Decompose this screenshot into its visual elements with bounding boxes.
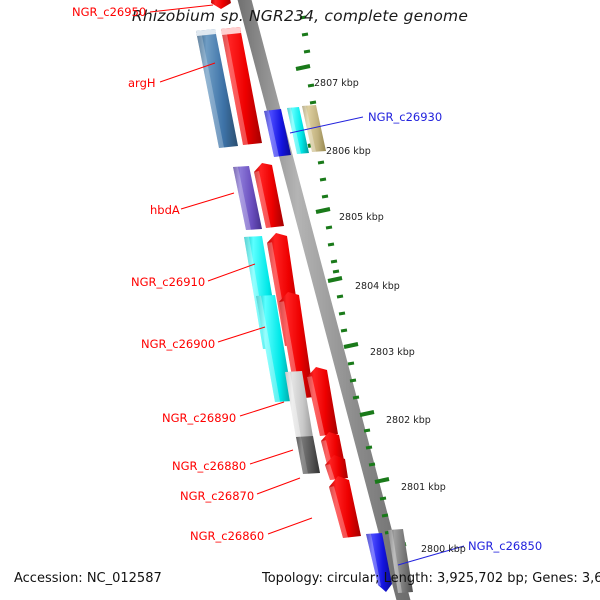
leader-line	[250, 450, 293, 464]
axis-tick-label: 2807 kbp	[314, 78, 359, 89]
axis-tick-label: 2801 kbp	[401, 482, 446, 493]
gene-label-hbda[interactable]: hbdA	[150, 203, 180, 217]
leader-line	[181, 193, 234, 209]
gene-label-argh[interactable]: argH	[128, 76, 156, 90]
gene-label-ngr_c26950[interactable]: NGR_c26950	[72, 5, 146, 19]
genome-map-canvas[interactable]	[0, 0, 600, 600]
axis-tick-label: 2803 kbp	[370, 347, 415, 358]
accession-text: Accession: NC_012587	[14, 571, 162, 586]
leader-line	[240, 402, 284, 416]
axis-tick-label: 2804 kbp	[355, 281, 400, 292]
gene-label-ngr_c26850[interactable]: NGR_c26850	[468, 539, 542, 553]
axis-tick-label: 2802 kbp	[386, 415, 431, 426]
leader-line	[268, 518, 312, 534]
gene-label-ngr_c26890[interactable]: NGR_c26890	[162, 411, 236, 425]
leader-line	[257, 478, 300, 494]
gene-label-ngr_c26860[interactable]: NGR_c26860	[190, 529, 264, 543]
gene-label-ngr_c26930[interactable]: NGR_c26930	[368, 110, 442, 124]
gene-label-ngr_c26880[interactable]: NGR_c26880	[172, 459, 246, 473]
genome-summary-text: Topology: circular; Length: 3,925,702 bp…	[262, 571, 600, 586]
genome-map-viewer: Rhizobium sp. NGR234, complete genome 28…	[0, 0, 600, 600]
axis-tick-label: 2805 kbp	[339, 212, 384, 223]
axis-tick-label: 2806 kbp	[326, 146, 371, 157]
leader-line	[218, 327, 265, 342]
gene-label-ngr_c26910[interactable]: NGR_c26910	[131, 275, 205, 289]
leader-line	[208, 264, 255, 281]
gene-label-ngr_c26870[interactable]: NGR_c26870	[180, 489, 254, 503]
gene-label-ngr_c26900[interactable]: NGR_c26900	[141, 337, 215, 351]
axis-tick-label: 2800 kbp	[421, 544, 466, 555]
